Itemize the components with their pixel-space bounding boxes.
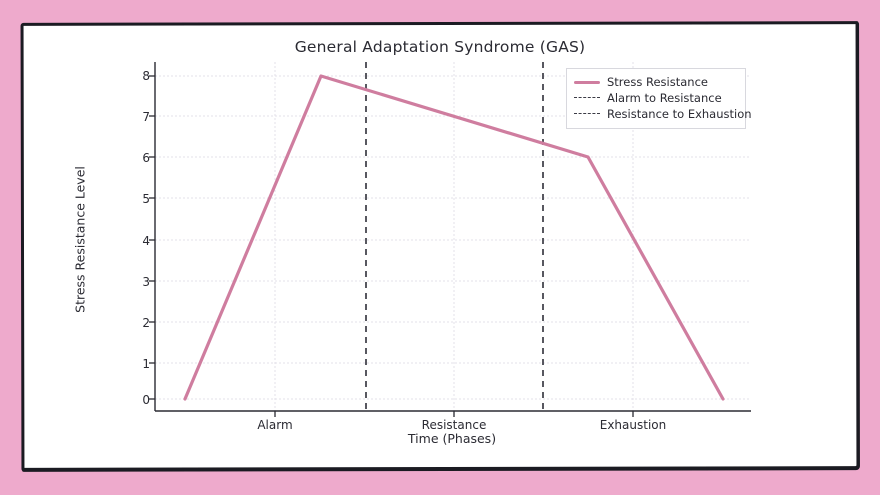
line-swatch-icon xyxy=(574,76,600,88)
legend-label: Stress Resistance xyxy=(607,75,708,89)
dashed-line-swatch-icon xyxy=(574,108,600,120)
legend-label: Alarm to Resistance xyxy=(607,91,722,105)
figure-canvas: General Adaptation Syndrome (GAS) Stress… xyxy=(0,0,880,495)
dashed-line-swatch-icon xyxy=(574,92,600,104)
chart-legend: Stress Resistance Alarm to Resistance Re… xyxy=(566,68,746,129)
legend-item-stress-resistance: Stress Resistance xyxy=(574,74,738,90)
legend-label: Resistance to Exhaustion xyxy=(607,107,752,121)
chart-svg xyxy=(0,0,880,495)
legend-item-resistance-to-exhaustion: Resistance to Exhaustion xyxy=(574,106,738,122)
axis-ticks xyxy=(149,76,633,417)
plot-area: General Adaptation Syndrome (GAS) Stress… xyxy=(0,0,880,495)
legend-item-alarm-to-resistance: Alarm to Resistance xyxy=(574,90,738,106)
